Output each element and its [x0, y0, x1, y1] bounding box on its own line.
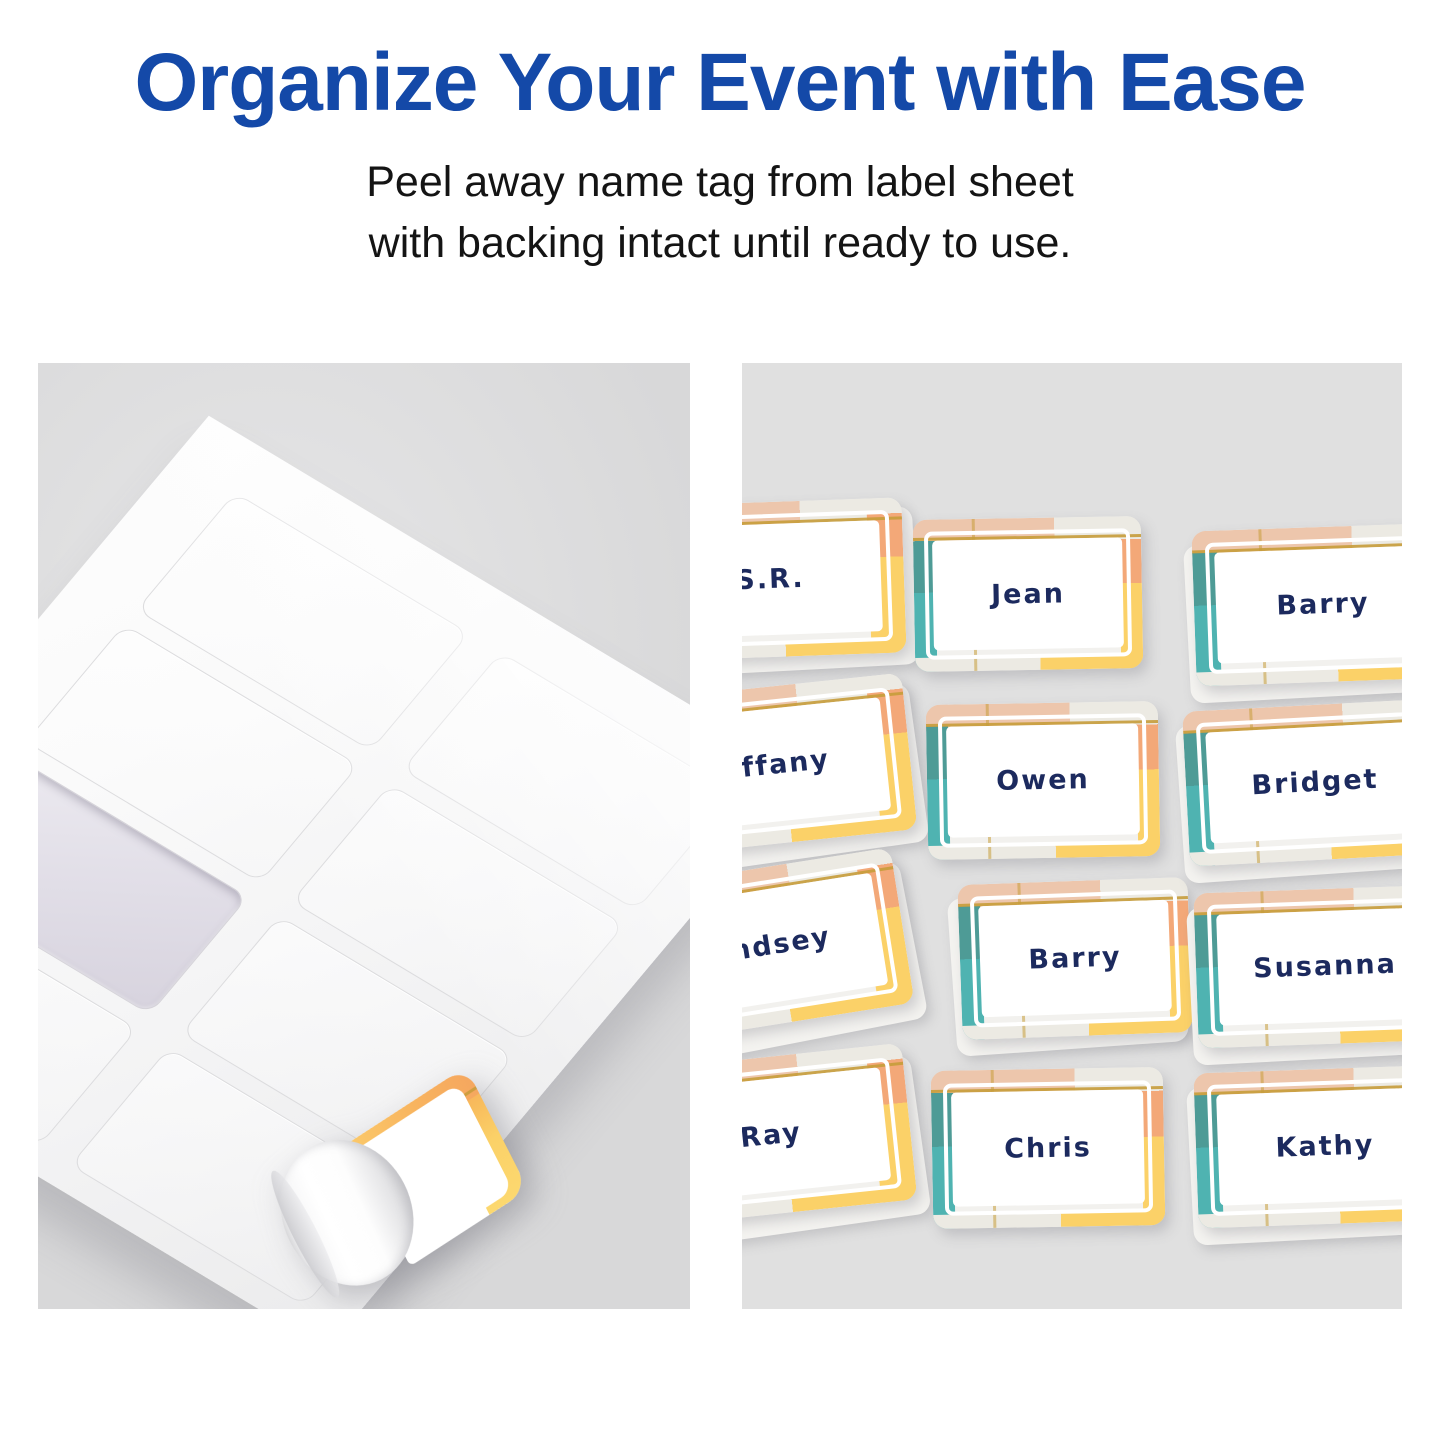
- subtitle-line-2: with backing intact until ready to use.: [0, 213, 1440, 274]
- name-tag: Ray: [742, 1043, 917, 1228]
- name-tag: Barry: [1191, 523, 1402, 687]
- tag-face: Susanna: [1216, 907, 1402, 1026]
- name-tag-text: Kathy: [1275, 1129, 1375, 1163]
- name-tag: Barry: [957, 877, 1192, 1040]
- name-tag: Bridget: [1182, 698, 1402, 866]
- name-tag-text: S.R.: [742, 563, 805, 596]
- name-tag-text: Bridget: [1251, 764, 1379, 802]
- name-tags-photo-panel: S.R. Tiffany Lindsey: [742, 363, 1402, 1309]
- tag-face: Barry: [978, 899, 1173, 1017]
- subtitle-line-1: Peel away name tag from label sheet: [0, 152, 1440, 213]
- page-title: Organize Your Event with Ease: [0, 40, 1440, 126]
- name-tag: Kathy: [1193, 1065, 1402, 1229]
- tag-face: Kathy: [1216, 1087, 1402, 1206]
- header: Organize Your Event with Ease Peel away …: [0, 0, 1440, 345]
- name-tag-text: Chris: [1004, 1132, 1092, 1165]
- name-tag: Tiffany: [742, 673, 917, 858]
- name-tag-text: Barry: [1028, 941, 1122, 975]
- name-tag: Susanna: [1193, 885, 1402, 1049]
- tag-face: S.R.: [742, 520, 883, 639]
- name-tag: Chris: [931, 1067, 1166, 1229]
- name-tags-scene: S.R. Tiffany Lindsey: [742, 363, 1402, 1309]
- tag-face: Chris: [951, 1089, 1146, 1206]
- name-tag-text: Lindsey: [742, 921, 833, 972]
- label-sheet-scene: [38, 363, 690, 1309]
- tag-face: Bridget: [1205, 721, 1402, 844]
- label-sheet-photo-panel: [38, 363, 690, 1309]
- tag-face: Owen: [946, 723, 1140, 838]
- name-tag-text: Barry: [1276, 587, 1370, 621]
- name-tag-text: Susanna: [1253, 949, 1398, 985]
- name-tag-text: Jean: [991, 578, 1065, 610]
- name-tag-text: Owen: [996, 764, 1090, 797]
- name-tag-text: Ray: [742, 1117, 803, 1154]
- tag-face: Jean: [932, 538, 1123, 651]
- tag-face: Barry: [1214, 545, 1402, 664]
- name-tag: Jean: [913, 516, 1144, 672]
- name-tag: Owen: [926, 701, 1161, 860]
- name-tag-text: Tiffany: [742, 744, 831, 787]
- name-tag: S.R.: [742, 497, 907, 661]
- subtitle: Peel away name tag from label sheet with…: [0, 152, 1440, 274]
